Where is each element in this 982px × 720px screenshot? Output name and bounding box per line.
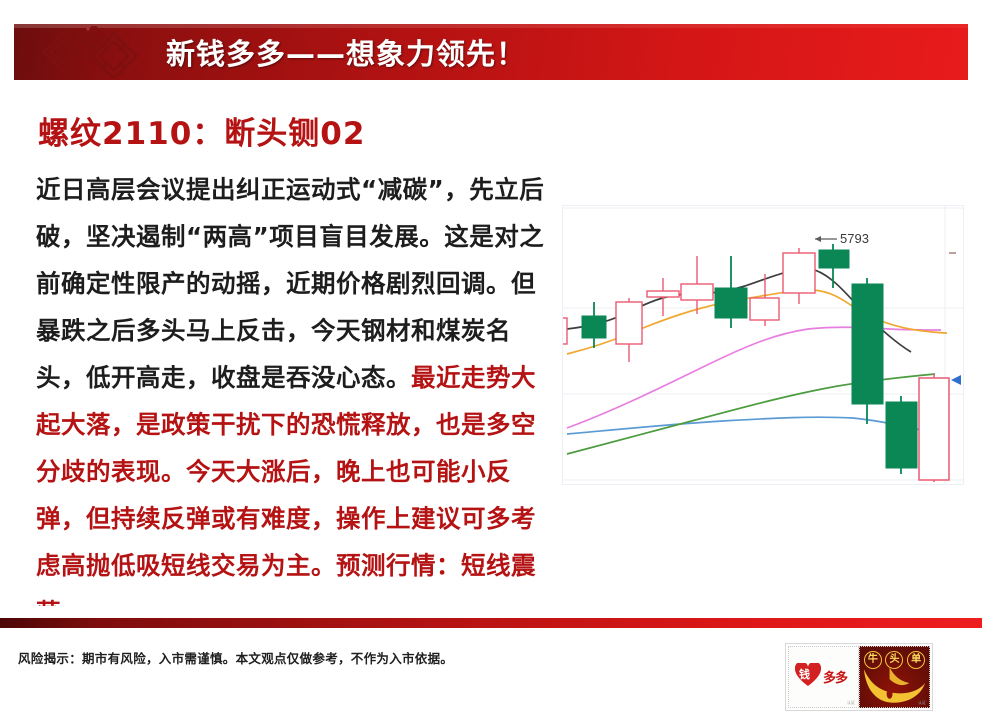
brand-stamps: 钱 多多 认证 牛 头 单 认证 [785,643,933,711]
candle-7 [783,248,815,304]
annotation-label: 5793 [840,231,869,246]
bull-char-row: 牛 头 单 [862,651,927,669]
candle-0 [563,314,567,348]
current-price-marker [949,253,961,385]
candle-9 [852,278,883,424]
bull-char-0: 牛 [864,651,882,669]
article-paragraph-black: 近日高层会议提出纠正运动式“减碳”，先立后破，坚决遏制“两高”项目盲目发展。这是… [36,175,544,392]
bull-char-2: 单 [907,651,925,669]
slide-root: 新钱多多——想象力领先！ 螺纹2110：断头铡02 近日高层会议提出纠正运动式“… [0,0,982,720]
candle-2 [616,298,642,362]
stamp-micro-text-right: 认证 [918,700,926,706]
chinese-knot-diamond-logo [32,26,148,78]
header-banner: 新钱多多——想象力领先！ [14,24,968,80]
page-title: 螺纹2110：断头铡02 [38,108,365,153]
stamp-heart-char: 钱 [799,666,810,682]
price-annotation: 5793 [815,231,869,246]
candle-6 [750,274,779,326]
stamp-left-label: 多多 [823,667,847,686]
candlestick-chart[interactable]: 5793 [562,205,964,485]
niutoudan-stamp: 牛 头 单 认证 [859,646,930,708]
candle-4 [681,256,713,314]
candle-5 [715,256,747,328]
risk-disclaimer: 风险揭示：期市有风险，入市需谨慎。本文观点仅做参考，不作为入市依据。 [18,648,718,667]
header-highlight [14,24,968,28]
candle-1 [582,302,606,348]
article-body: 近日高层会议提出纠正运动式“减碳”，先立后破，坚决遏制“两高”项目盲目发展。这是… [36,166,546,606]
bull-char-1: 头 [885,651,903,669]
candle-series [563,244,949,482]
article-paragraph-red: 最近走势大起大落，是政策干扰下的恐慌释放，也是多空分歧的表现。今天大涨后，晚上也… [36,363,536,606]
chart-canvas: 5793 [563,206,963,484]
candle-3 [647,278,679,316]
footer-divider [0,618,982,628]
candle-11 [919,374,949,482]
qianduoduo-stamp: 钱 多多 认证 [788,646,859,708]
candle-10 [886,396,917,474]
stamp-micro-text: 认证 [847,700,855,706]
ma-line-MA60 [567,417,933,434]
header-title: 新钱多多——想象力领先！ [166,31,526,73]
